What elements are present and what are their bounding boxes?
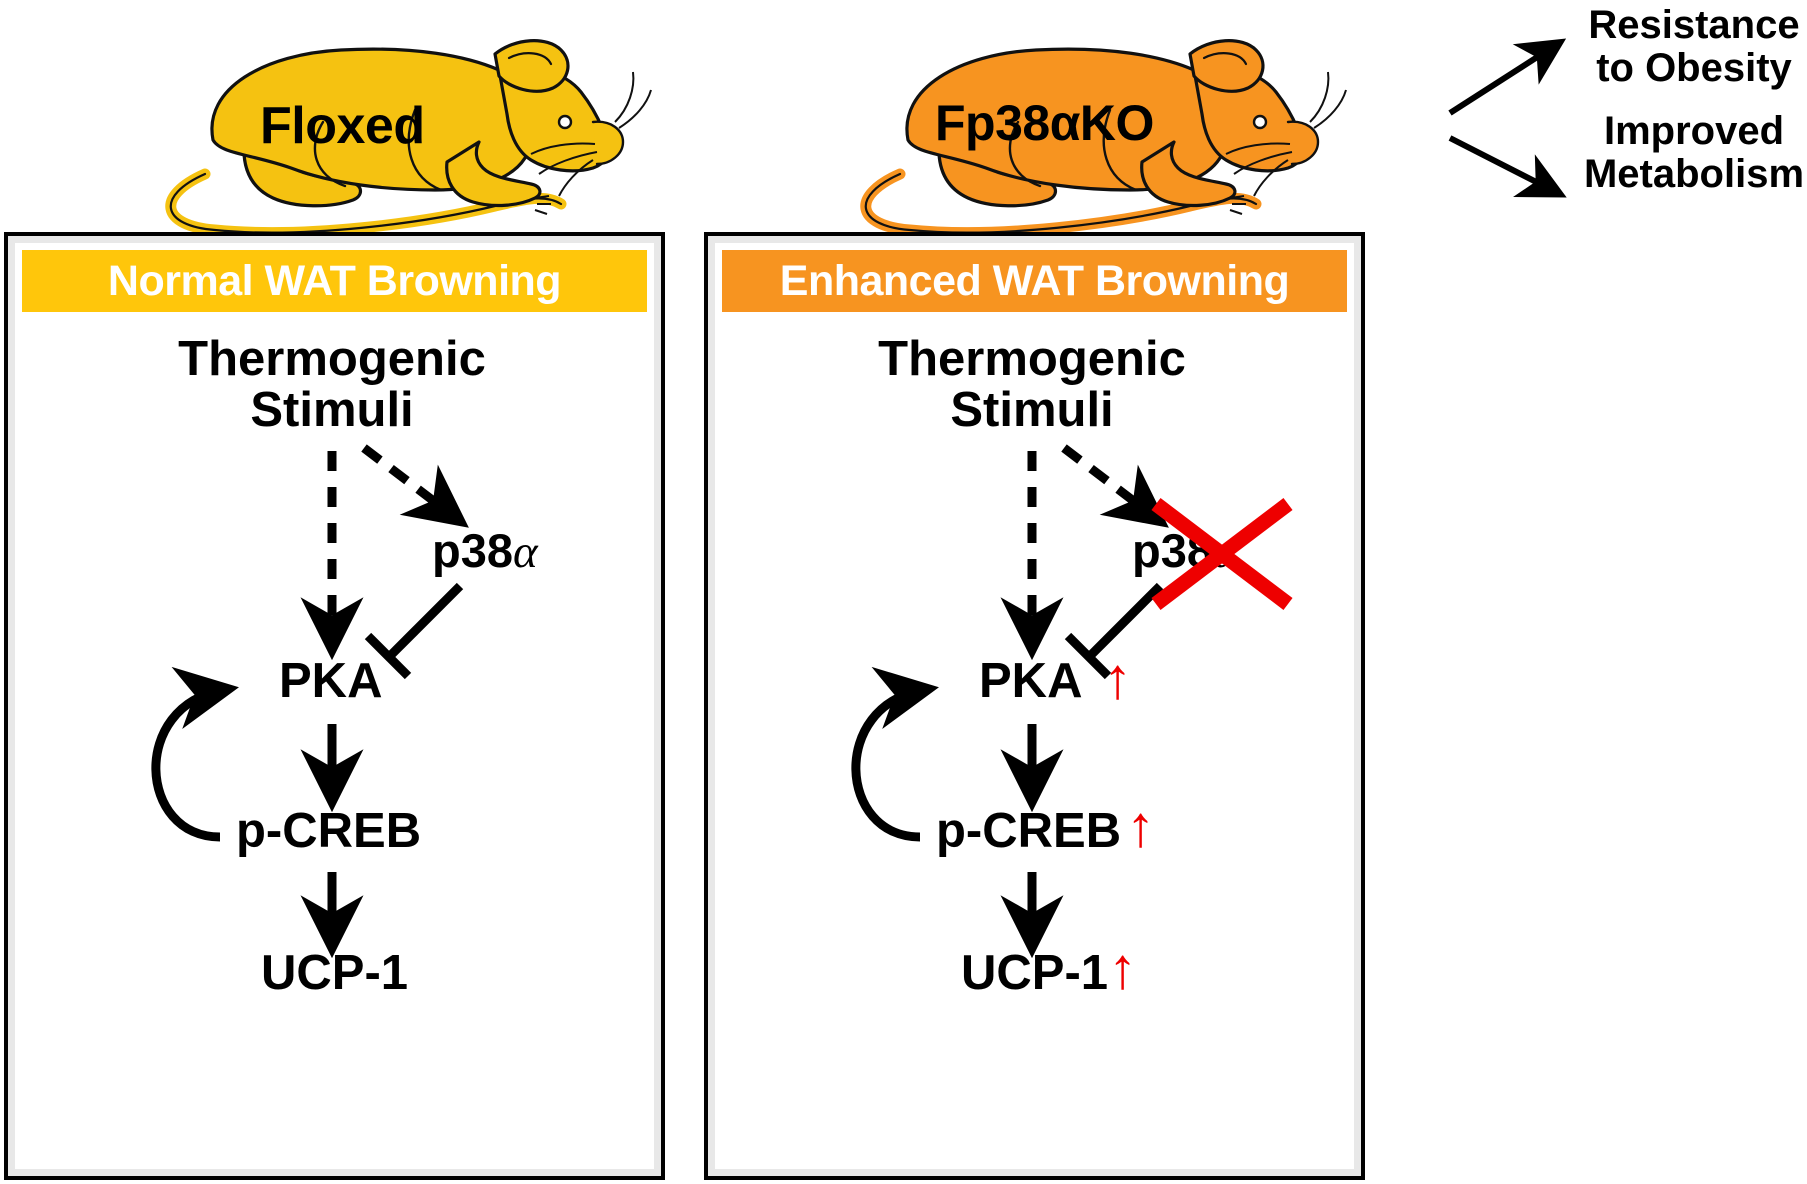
p38-knockout-red-x-icon	[1138, 488, 1308, 618]
right-node-pka: PKA	[979, 656, 1082, 707]
right-node-ucp1: UCP-1	[961, 948, 1108, 999]
floxed-mouse-illustration: Floxed	[95, 18, 655, 243]
ko-to-resistance-arrow	[1450, 45, 1556, 113]
left-node-thermogenic-stimuli: Thermogenic Stimuli	[82, 334, 582, 437]
left-node-p38-alpha-glyph: α	[513, 526, 538, 578]
edge-stimuli-to-p38	[364, 448, 456, 518]
left-node-p38-text: p38	[432, 524, 513, 577]
right-panel-enhanced-wat-browning: Enhanced WAT Browning	[704, 232, 1365, 1180]
ko-mouse-illustration: Fp38αKO	[790, 18, 1350, 243]
edge-pcreb-feedback-to-pka	[156, 690, 223, 837]
ucp1-increase-red-arrow-icon: ↑	[1108, 940, 1137, 998]
left-panel-normal-wat-browning: Normal WAT Browning	[4, 232, 665, 1180]
floxed-mouse-label: Floxed	[260, 96, 425, 156]
left-node-pcreb: p-CREB	[236, 806, 421, 857]
edge-pcreb-feedback-to-pka	[856, 690, 923, 837]
left-node-p38alpha: p38α	[432, 526, 538, 577]
right-node-thermogenic-stimuli: Thermogenic Stimuli	[782, 334, 1282, 437]
mouse-eye	[559, 116, 571, 128]
figure-canvas: Floxed	[0, 0, 1807, 1184]
pcreb-increase-red-arrow-icon: ↑	[1126, 798, 1155, 856]
ko-mouse-label: Fp38αKO	[935, 94, 1154, 152]
right-node-pcreb: p-CREB	[936, 806, 1121, 857]
left-node-pka: PKA	[279, 656, 382, 707]
pka-increase-red-arrow-icon: ↑	[1103, 650, 1132, 708]
left-node-ucp1: UCP-1	[261, 948, 408, 999]
outcome-improved-metabolism: Improved Metabolism	[1583, 110, 1805, 196]
outcome-resistance-to-obesity: Resistance to Obesity	[1583, 4, 1805, 90]
ko-to-metabolism-arrow	[1450, 138, 1556, 192]
mouse-eye	[1254, 116, 1266, 128]
